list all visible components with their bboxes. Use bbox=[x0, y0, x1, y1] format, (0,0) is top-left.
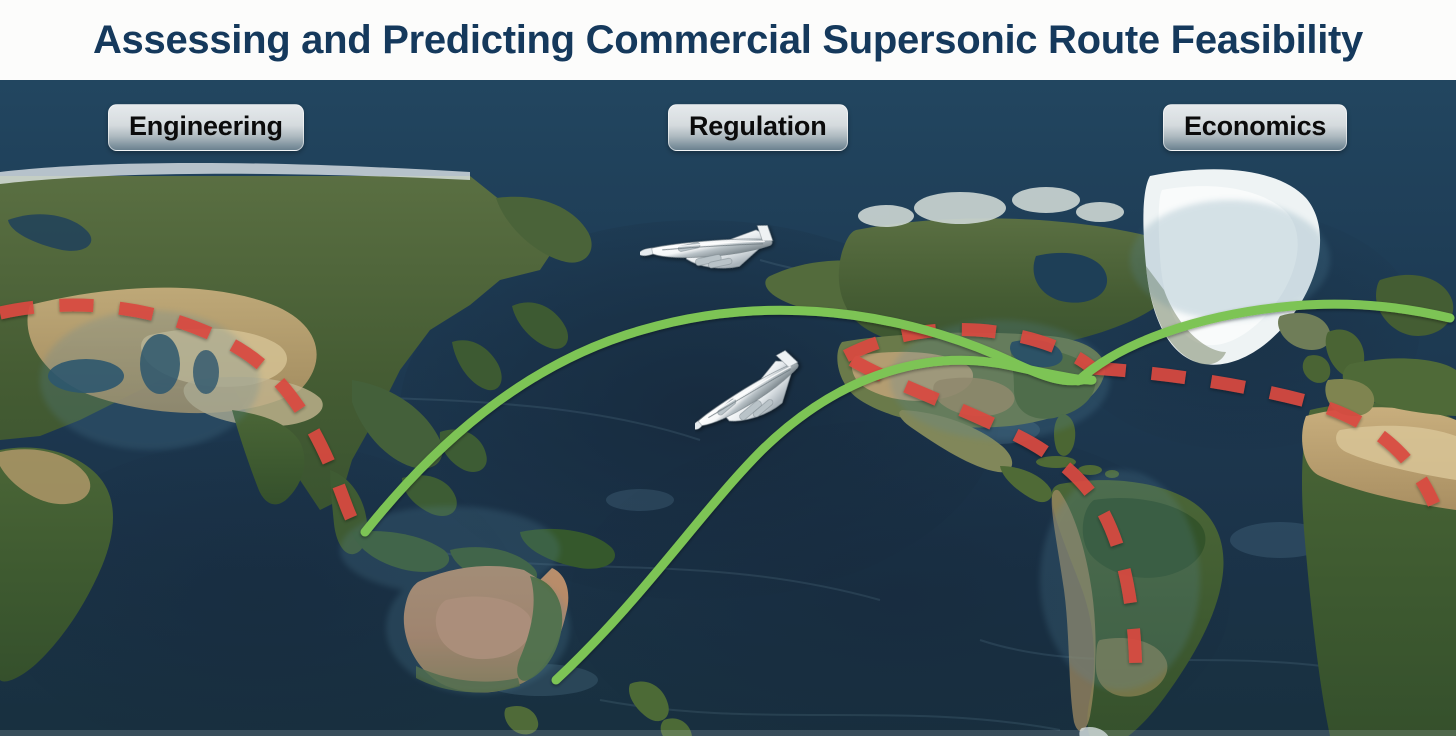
landmass-africa-east bbox=[1302, 403, 1456, 736]
slide-root: Assessing and Predicting Commercial Supe… bbox=[0, 0, 1456, 736]
chip-regulation-label: Regulation bbox=[689, 111, 827, 142]
chip-economics-label: Economics bbox=[1184, 111, 1326, 142]
slide-header: Assessing and Predicting Commercial Supe… bbox=[0, 0, 1456, 80]
aircraft-pacific-mid bbox=[695, 345, 825, 460]
chip-regulation[interactable]: Regulation bbox=[668, 104, 848, 151]
chip-engineering[interactable]: Engineering bbox=[108, 104, 304, 151]
page-title: Assessing and Predicting Commercial Supe… bbox=[85, 20, 1371, 60]
aircraft-pacific-north bbox=[640, 205, 790, 300]
chip-engineering-label: Engineering bbox=[129, 111, 283, 142]
chip-economics[interactable]: Economics bbox=[1163, 104, 1347, 151]
